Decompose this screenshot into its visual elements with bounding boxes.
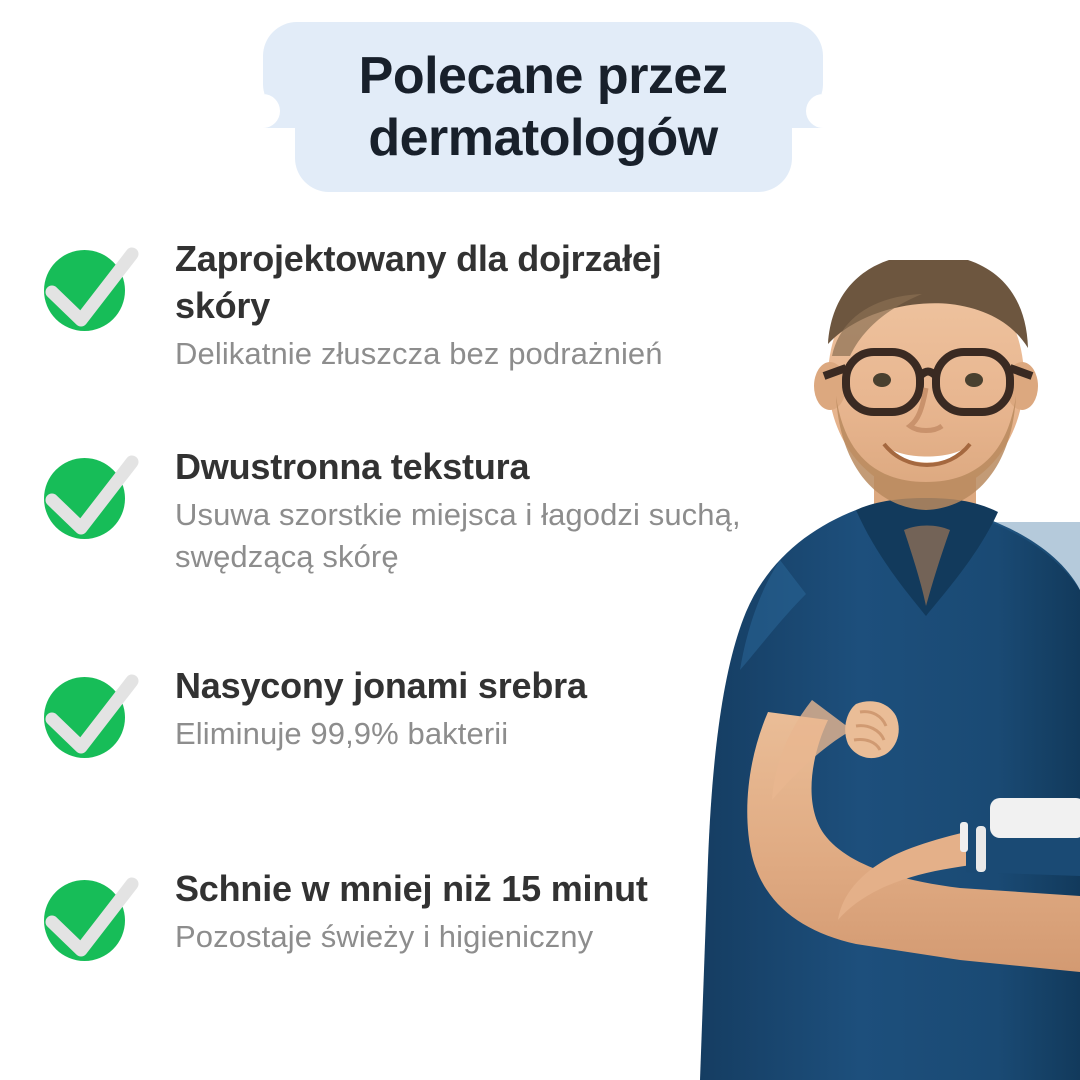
feature-list: Zaprojektowany dla dojrzałej skóry Delik… xyxy=(0,0,1080,1080)
green-check-circle-icon xyxy=(44,669,136,757)
feature-subtitle: Eliminuje 99,9% bakterii xyxy=(175,713,764,755)
feature-subtitle: Pozostaje świeży i higieniczny xyxy=(175,916,764,958)
promo-card: Polecane przez dermatologów xyxy=(0,0,1080,1080)
list-item: Zaprojektowany dla dojrzałej skóry Delik… xyxy=(44,236,764,375)
list-item: Dwustronna tekstura Usuwa szorstkie miej… xyxy=(44,444,764,578)
list-item: Schnie w mniej niż 15 minut Pozostaje św… xyxy=(44,866,764,958)
feature-subtitle: Usuwa szorstkie miejsca i łagodzi suchą,… xyxy=(175,494,764,578)
feature-title: Dwustronna tekstura xyxy=(175,444,764,491)
list-item: Nasycony jonami srebra Eliminuje 99,9% b… xyxy=(44,663,764,755)
green-check-circle-icon xyxy=(44,450,136,538)
green-check-circle-icon xyxy=(44,242,136,330)
green-check-circle-icon xyxy=(44,872,136,960)
feature-title: Zaprojektowany dla dojrzałej skóry xyxy=(175,236,764,330)
feature-title: Schnie w mniej niż 15 minut xyxy=(175,866,764,913)
feature-title: Nasycony jonami srebra xyxy=(175,663,764,710)
feature-subtitle: Delikatnie złuszcza bez podrażnień xyxy=(175,333,764,375)
